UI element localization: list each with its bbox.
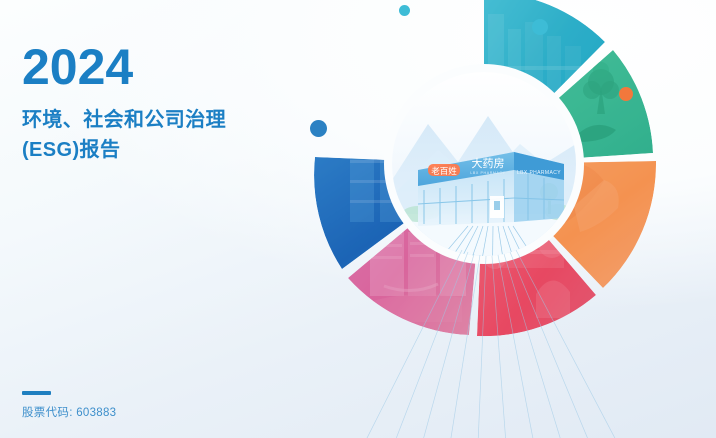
stock-code-label: 股票代码: 603883 [22,404,116,420]
report-subtitle: 环境、社会和公司治理 (ESG)报告 [22,105,322,165]
accent-bar [22,391,51,395]
svg-text:LBX PHARMACY: LBX PHARMACY [517,170,561,176]
dot-cyan-small [399,5,410,16]
esg-report-cover: 老百姓 大药房 LBX PHARMACY LBX PHARMACY [0,0,716,438]
svg-text:老百姓: 老百姓 [431,166,457,177]
report-year: 2024 [22,42,322,92]
report-subtitle-line1: 环境、社会和公司治理 [22,109,226,131]
svg-text:大药房: 大药房 [472,156,505,170]
dot-orange [619,87,633,101]
dot-cyan-large [532,19,548,35]
svg-text:LBX PHARMACY: LBX PHARMACY [470,171,505,175]
stock-code-block: 股票代码: 603883 [22,391,116,420]
cover-title-block: 2024 环境、社会和公司治理 (ESG)报告 [22,42,322,165]
report-subtitle-line2: (ESG)报告 [22,135,322,165]
